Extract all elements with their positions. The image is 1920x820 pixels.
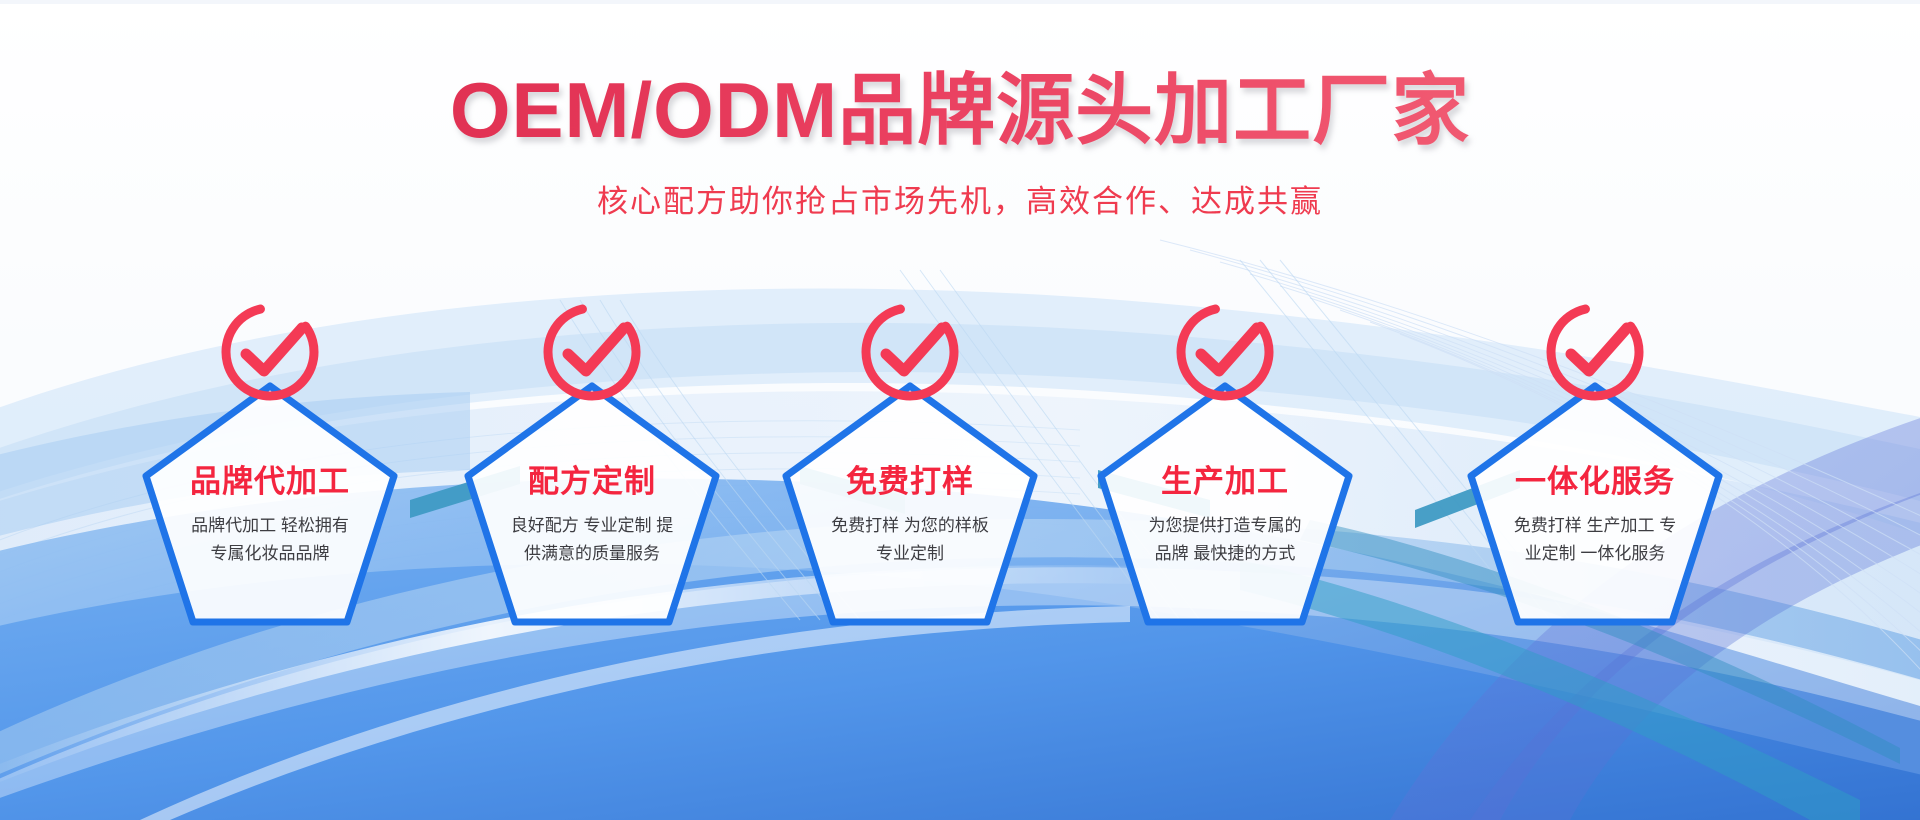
- check-circle-svg: [858, 300, 962, 404]
- banner-header: OEM/ODM品牌源头加工厂家 核心配方助你抢占市场先机，高效合作、达成共赢: [0, 0, 1920, 221]
- badge-texts-5: 一体化服务 免费打样 生产加工 专 业定制 一体化服务: [1465, 465, 1725, 567]
- feature-badge-2[interactable]: 配方定制 良好配方 专业定制 提 供满意的质量服务: [462, 300, 722, 660]
- page-subtitle: 核心配方助你抢占市场先机，高效合作、达成共赢: [0, 156, 1920, 221]
- badge-description: 免费打样 为您的样板 专业定制: [780, 512, 1040, 567]
- feature-badge-5[interactable]: 一体化服务 免费打样 生产加工 专 业定制 一体化服务: [1465, 300, 1725, 660]
- check-circle-icon: [218, 300, 322, 404]
- check-circle-icon: [540, 300, 644, 404]
- page-title: OEM/ODM品牌源头加工厂家: [0, 0, 1920, 156]
- badge-title: 一体化服务: [1465, 465, 1725, 499]
- badge-desc-line: 品牌 最快捷的方式: [1117, 540, 1333, 568]
- check-circle-svg: [1173, 300, 1277, 404]
- feature-badge-4[interactable]: 生产加工 为您提供打造专属的 品牌 最快捷的方式: [1095, 300, 1355, 660]
- feature-badge-row: 品牌代加工 品牌代加工 轻松拥有 专属化妆品品牌 配方: [0, 300, 1920, 660]
- badge-texts-1: 品牌代加工 品牌代加工 轻松拥有 专属化妆品品牌: [140, 465, 400, 567]
- badge-description: 良好配方 专业定制 提 供满意的质量服务: [462, 512, 722, 567]
- feature-badge-3[interactable]: 免费打样 免费打样 为您的样板 专业定制: [780, 300, 1040, 660]
- badge-desc-line: 免费打样 为您的样板: [802, 512, 1018, 540]
- badge-texts-3: 免费打样 免费打样 为您的样板 专业定制: [780, 465, 1040, 567]
- badge-texts-4: 生产加工 为您提供打造专属的 品牌 最快捷的方式: [1095, 465, 1355, 567]
- badge-description: 为您提供打造专属的 品牌 最快捷的方式: [1095, 512, 1355, 567]
- badge-description: 免费打样 生产加工 专 业定制 一体化服务: [1465, 512, 1725, 567]
- badge-desc-line: 专业定制: [802, 540, 1018, 568]
- badge-title: 品牌代加工: [140, 465, 400, 499]
- badge-title: 配方定制: [462, 465, 722, 499]
- check-circle-svg: [1543, 300, 1647, 404]
- check-circle-icon: [858, 300, 962, 404]
- check-circle-icon: [1543, 300, 1647, 404]
- badge-desc-line: 专属化妆品品牌: [162, 540, 378, 568]
- badge-title: 生产加工: [1095, 465, 1355, 499]
- badge-desc-line: 业定制 一体化服务: [1487, 540, 1703, 568]
- badge-desc-line: 为您提供打造专属的: [1117, 512, 1333, 540]
- promo-banner: OEM/ODM品牌源头加工厂家 核心配方助你抢占市场先机，高效合作、达成共赢 品…: [0, 0, 1920, 820]
- badge-texts-2: 配方定制 良好配方 专业定制 提 供满意的质量服务: [462, 465, 722, 567]
- badge-description: 品牌代加工 轻松拥有 专属化妆品品牌: [140, 512, 400, 567]
- check-circle-svg: [540, 300, 644, 404]
- badge-desc-line: 供满意的质量服务: [484, 540, 700, 568]
- badge-desc-line: 良好配方 专业定制 提: [484, 512, 700, 540]
- feature-badge-1[interactable]: 品牌代加工 品牌代加工 轻松拥有 专属化妆品品牌: [140, 300, 400, 660]
- badge-desc-line: 品牌代加工 轻松拥有: [162, 512, 378, 540]
- check-circle-icon: [1173, 300, 1277, 404]
- badge-desc-line: 免费打样 生产加工 专: [1487, 512, 1703, 540]
- check-circle-svg: [218, 300, 322, 404]
- badge-title: 免费打样: [780, 465, 1040, 499]
